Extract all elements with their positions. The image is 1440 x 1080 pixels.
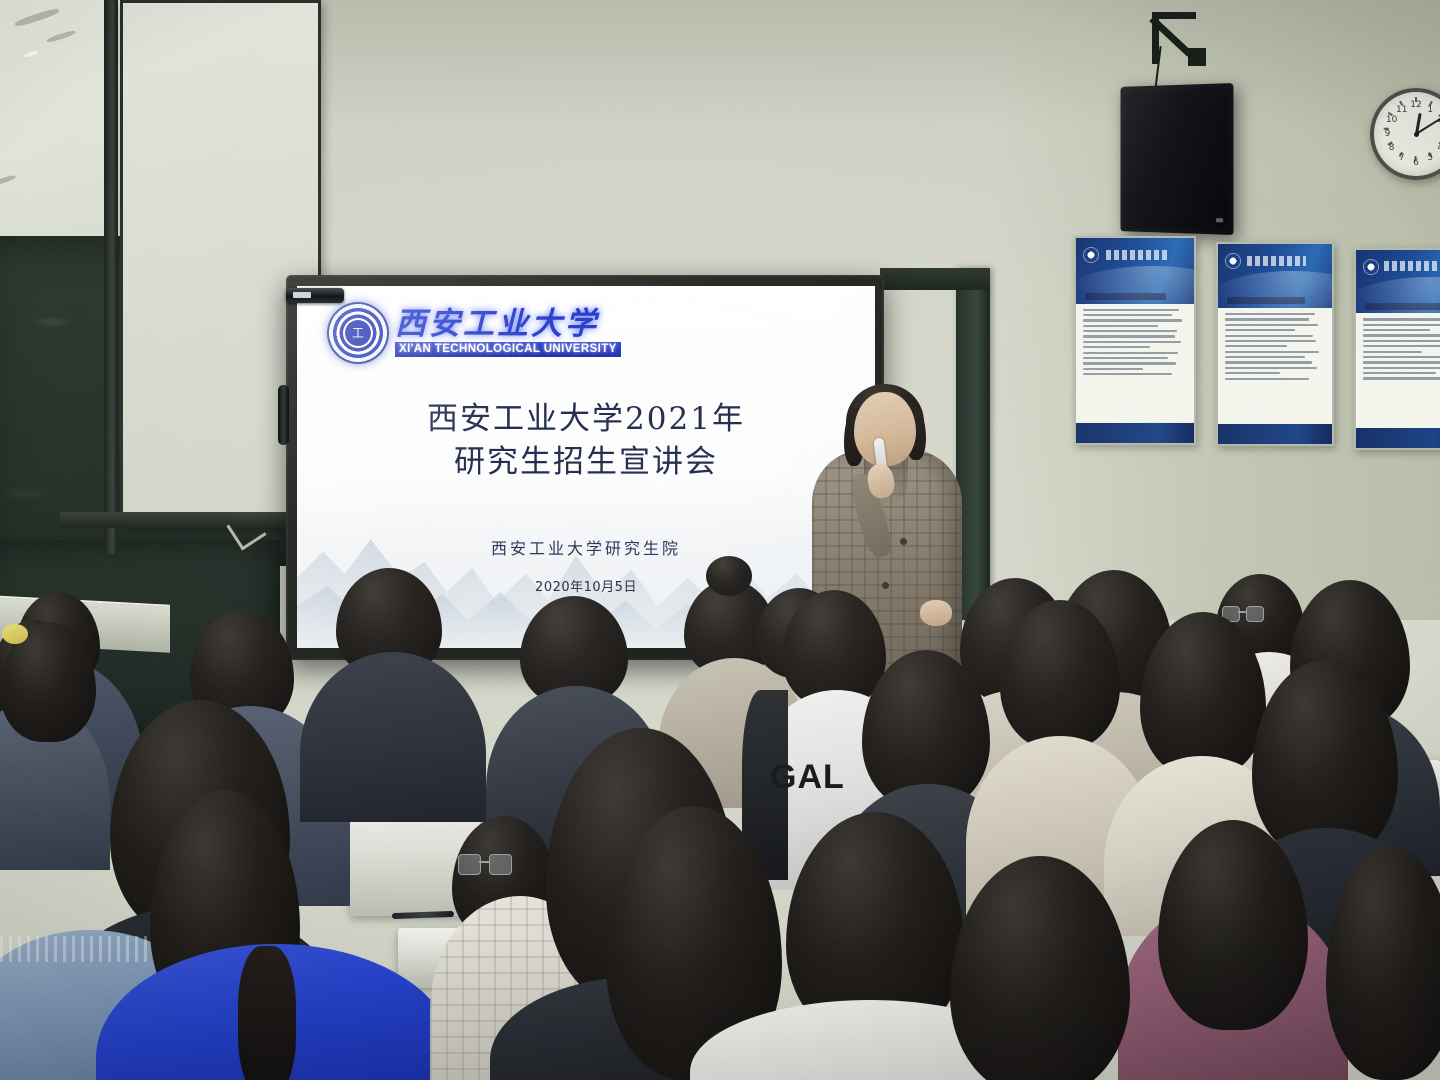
seal-glyph: 工 <box>352 327 364 339</box>
wall-poster-2 <box>1216 242 1334 446</box>
whiteboard-track <box>104 0 118 554</box>
poster-wordmark <box>1247 256 1306 266</box>
ponytail <box>238 946 296 1080</box>
wall-poster-3 <box>1354 248 1440 450</box>
poster-footer <box>1356 428 1440 448</box>
slide-organization: 西安工业大学研究生院 <box>297 535 875 559</box>
jacket-logo-text: GAL <box>770 760 868 794</box>
university-logo: 工 西安工业大学 XI'AN TECHNOLOGICAL UNIVERSITY <box>327 302 621 364</box>
poster-header <box>1218 244 1332 308</box>
display-stylus[interactable] <box>278 385 289 445</box>
hair-bun <box>706 556 752 596</box>
poster-header <box>1076 238 1194 304</box>
poster-footer <box>1218 424 1332 444</box>
poster-title-bar <box>1085 293 1165 300</box>
classroom-photo: 12 1 2 3 4 5 6 7 8 9 10 11 <box>0 0 1440 1080</box>
poster-wordmark <box>1384 261 1440 271</box>
clock-numeral: 6 <box>1413 158 1419 168</box>
coat-button <box>900 538 907 545</box>
board-frame-top-edge <box>880 268 990 290</box>
logo-chinese-wordmark: 西安工业大学 <box>395 309 621 340</box>
display-camera-icon <box>286 288 344 303</box>
clock-numeral: 5 <box>1427 153 1433 163</box>
poster-body <box>1356 313 1440 428</box>
coat-button <box>882 582 889 589</box>
presenter-hand-lower <box>920 600 952 626</box>
poster-body <box>1076 304 1194 423</box>
speaker-bracket <box>1152 12 1208 68</box>
hair-scrunchie <box>2 624 28 644</box>
poster-footer <box>1076 423 1194 444</box>
clock-numeral: 7 <box>1399 153 1405 163</box>
poster-seal-icon <box>1364 260 1378 274</box>
poster-header <box>1356 250 1440 313</box>
poster-seal-icon <box>1084 248 1098 262</box>
poster-wordmark <box>1106 250 1167 260</box>
logo-wordmark: 西安工业大学 XI'AN TECHNOLOGICAL UNIVERSITY <box>395 309 621 357</box>
poster-title-bar <box>1227 297 1305 304</box>
clock-center-pin <box>1414 132 1419 137</box>
wall-speaker <box>1120 83 1233 235</box>
logo-english-wordmark: XI'AN TECHNOLOGICAL UNIVERSITY <box>395 342 621 357</box>
clock-numeral: 1 <box>1427 105 1433 115</box>
eyeglasses-icon <box>458 854 510 874</box>
clock-numeral: 10 <box>1386 115 1397 125</box>
clock-numeral: 8 <box>1389 143 1395 153</box>
clock-numeral: 9 <box>1385 129 1391 139</box>
poster-seal-icon <box>1226 254 1240 268</box>
eyeglasses-icon <box>1222 606 1262 621</box>
wall-poster-1 <box>1074 236 1196 445</box>
university-seal-icon: 工 <box>327 302 389 364</box>
clock-numeral: 12 <box>1410 100 1421 110</box>
slide-title-line-2: 研究生招生宣讲会 <box>297 441 875 484</box>
poster-body <box>1218 308 1332 424</box>
poster-title-bar <box>1365 303 1440 310</box>
slide-title: 西安工业大学2021年 研究生招生宣讲会 <box>297 398 875 484</box>
slide-title-line-1: 西安工业大学2021年 <box>297 398 875 441</box>
clock-numeral: 11 <box>1396 105 1407 115</box>
